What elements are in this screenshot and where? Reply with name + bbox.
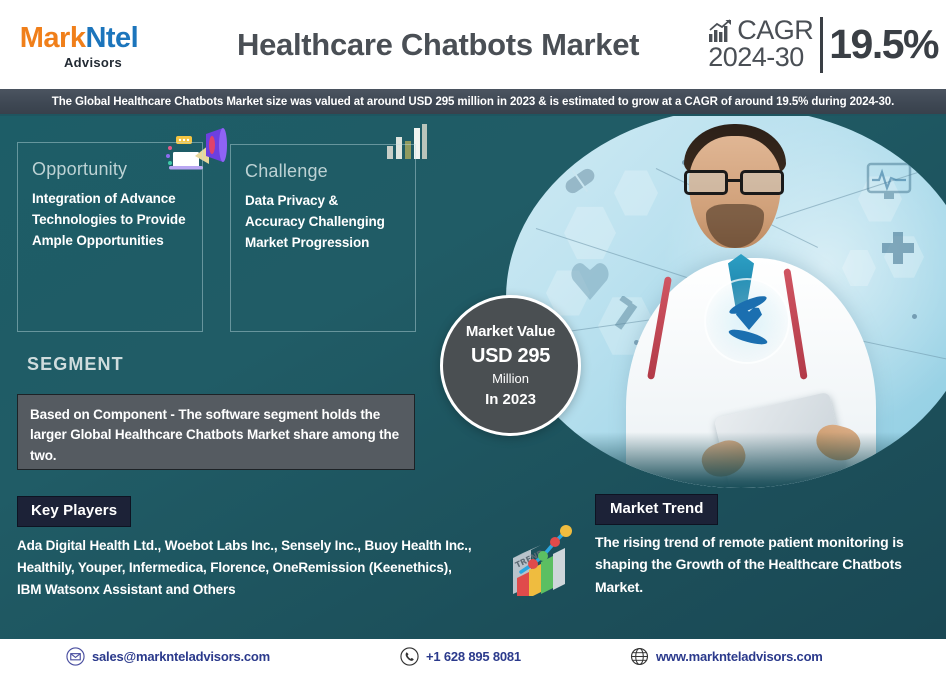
challenge-card-text: Data Privacy & Accuracy Challenging Mark… (245, 191, 401, 254)
opportunity-card: Opportunity Integration of Advance Techn… (17, 142, 203, 332)
summary-banner-text: The Global Healthcare Chatbots Market si… (52, 96, 894, 108)
logo-subtitle: Advisors (36, 55, 122, 70)
body-area: Opportunity Integration of Advance Techn… (0, 116, 946, 639)
footer: sales@marknteladvisors.com +1 628 895 80… (0, 639, 946, 674)
footer-website-text: www.marknteladvisors.com (656, 649, 823, 664)
opportunity-card-text: Integration of Advance Technologies to P… (32, 189, 188, 252)
infographic-page: MarkNtel Advisors Healthcare Chatbots Ma… (0, 0, 946, 674)
cagr-label: CAGR (737, 18, 813, 44)
challenge-card: Challenge Data Privacy & Accuracy Challe… (230, 144, 416, 332)
market-trend-text: The rising trend of remote patient monit… (595, 531, 930, 598)
pill-icon (558, 162, 602, 202)
syringe-icon (608, 296, 644, 340)
cagr-value: 19.5% (823, 24, 938, 65)
key-players-badge: Key Players (17, 496, 131, 527)
segment-box: Based on Component - The software segmen… (17, 394, 415, 470)
market-trend-badge: Market Trend (595, 494, 718, 525)
trend-3d-bar-chart-icon: TREND (505, 506, 595, 596)
key-players-list: Ada Digital Health Ltd., Woebot Labs Inc… (17, 535, 472, 601)
market-trend-badge-label: Market Trend (610, 500, 703, 517)
cagr-block: CAGR 2024-30 19.5% (708, 0, 946, 89)
header: MarkNtel Advisors Healthcare Chatbots Ma… (0, 0, 946, 89)
brand-logo[interactable]: MarkNtel Advisors (0, 0, 158, 89)
segment-text: Based on Component - The software segmen… (30, 405, 402, 466)
market-value-unit: Million (492, 371, 529, 386)
summary-banner: The Global Healthcare Chatbots Market si… (0, 89, 946, 116)
medical-cross-icon (880, 230, 916, 266)
market-value-badge: Market Value USD 295 Million In 2023 (440, 295, 581, 436)
opportunity-card-title: Opportunity (32, 159, 188, 180)
bar-chart-arrow-icon (708, 19, 734, 43)
logo-wordmark: MarkNtel (20, 24, 139, 53)
globe-icon (630, 647, 649, 666)
footer-phone[interactable]: +1 628 895 8081 (400, 647, 521, 666)
footer-website[interactable]: www.marknteladvisors.com (630, 647, 823, 666)
envelope-icon (66, 647, 85, 666)
holographic-care-icon (704, 278, 790, 364)
footer-phone-text: +1 628 895 8081 (426, 649, 521, 664)
market-value-label: Market Value (466, 323, 555, 340)
heart-icon (570, 258, 610, 304)
ecg-monitor-icon (866, 162, 912, 202)
cagr-left: CAGR 2024-30 (708, 18, 820, 72)
key-players-badge-label: Key Players (31, 502, 117, 519)
cagr-years: 2024-30 (708, 43, 804, 71)
footer-email[interactable]: sales@marknteladvisors.com (66, 647, 270, 666)
cagr-top-row: CAGR (708, 18, 813, 44)
segment-heading: SEGMENT (27, 354, 124, 375)
market-value-amount: USD 295 (471, 345, 550, 368)
challenge-card-title: Challenge (245, 161, 401, 182)
logo-text-ntel: Ntel (85, 22, 138, 54)
footer-email-text: sales@marknteladvisors.com (92, 649, 270, 664)
page-title: Healthcare Chatbots Market (158, 27, 708, 63)
doctor-hero-photo (506, 116, 946, 488)
market-value-year: In 2023 (485, 391, 536, 408)
phone-icon (400, 647, 419, 666)
photo-fade-overlay (506, 432, 946, 488)
logo-text-mark: Mark (20, 22, 86, 54)
eyeglasses-icon (682, 170, 790, 196)
